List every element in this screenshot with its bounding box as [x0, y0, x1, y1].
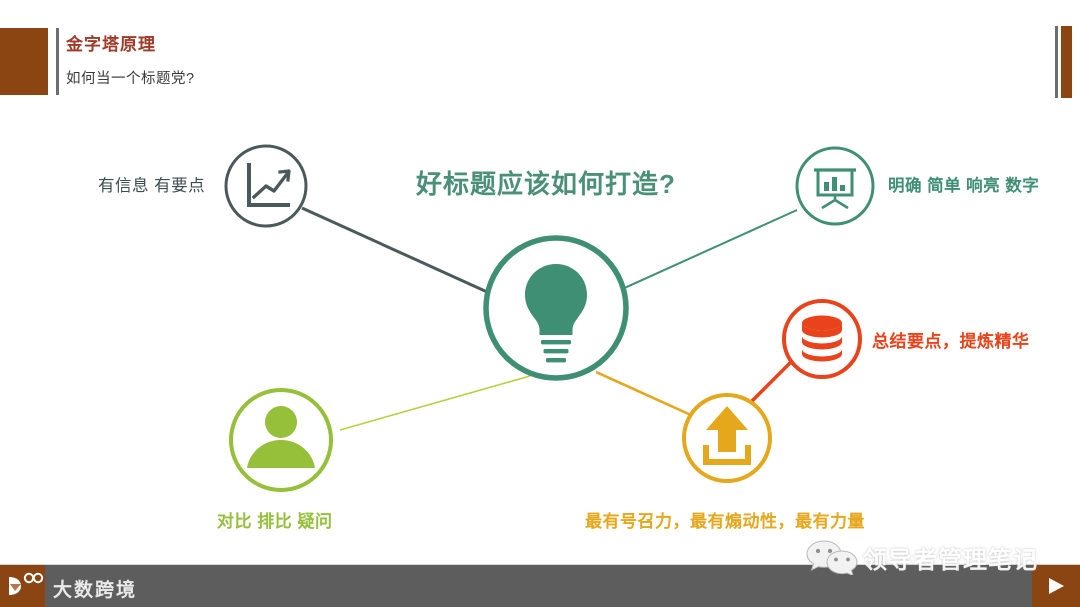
- next-slide-button[interactable]: [1032, 565, 1080, 607]
- label-bottom-center: 最有号召力，最有煽动性，最有力量: [585, 507, 865, 532]
- header-right-rule: [1055, 26, 1058, 98]
- header-right-accent-bar: [1061, 26, 1072, 98]
- header-divider-rule: [56, 28, 59, 95]
- slide-canvas: 金字塔原理 如何当一个标题党?: [0, 0, 1080, 607]
- node-top-left-chart: [226, 146, 306, 226]
- wechat-icon: [805, 539, 859, 575]
- node-bottom-left-person: [231, 390, 331, 490]
- play-triangle-icon: [1049, 578, 1064, 594]
- middle-right-circle-ring: [784, 301, 860, 377]
- node-middle-right-database: [784, 301, 860, 377]
- node-top-right-presentation: [797, 148, 873, 224]
- header-accent-block: [0, 28, 48, 95]
- label-top-left: 有信息 有要点: [98, 172, 205, 196]
- label-middle-right: 总结要点，提炼精华: [872, 327, 1030, 352]
- label-bottom-left: 对比 排比 疑问: [217, 507, 332, 532]
- page-subtitle: 如何当一个标题党?: [66, 67, 195, 88]
- node-bottom-center-upload: [684, 395, 770, 481]
- footer-brand-text: 大数跨境: [53, 575, 137, 602]
- wechat-account-name: 领导者管理笔记: [863, 540, 1038, 575]
- label-top-right: 明确 简单 响亮 数字: [888, 172, 1039, 196]
- page-title: 金字塔原理: [66, 35, 156, 55]
- node-center-lightbulb: [486, 238, 626, 378]
- dashu-logo-icon: [4, 571, 44, 601]
- footer-logo-block: [0, 565, 45, 607]
- diagram-center-title: 好标题应该如何打造?: [416, 164, 676, 201]
